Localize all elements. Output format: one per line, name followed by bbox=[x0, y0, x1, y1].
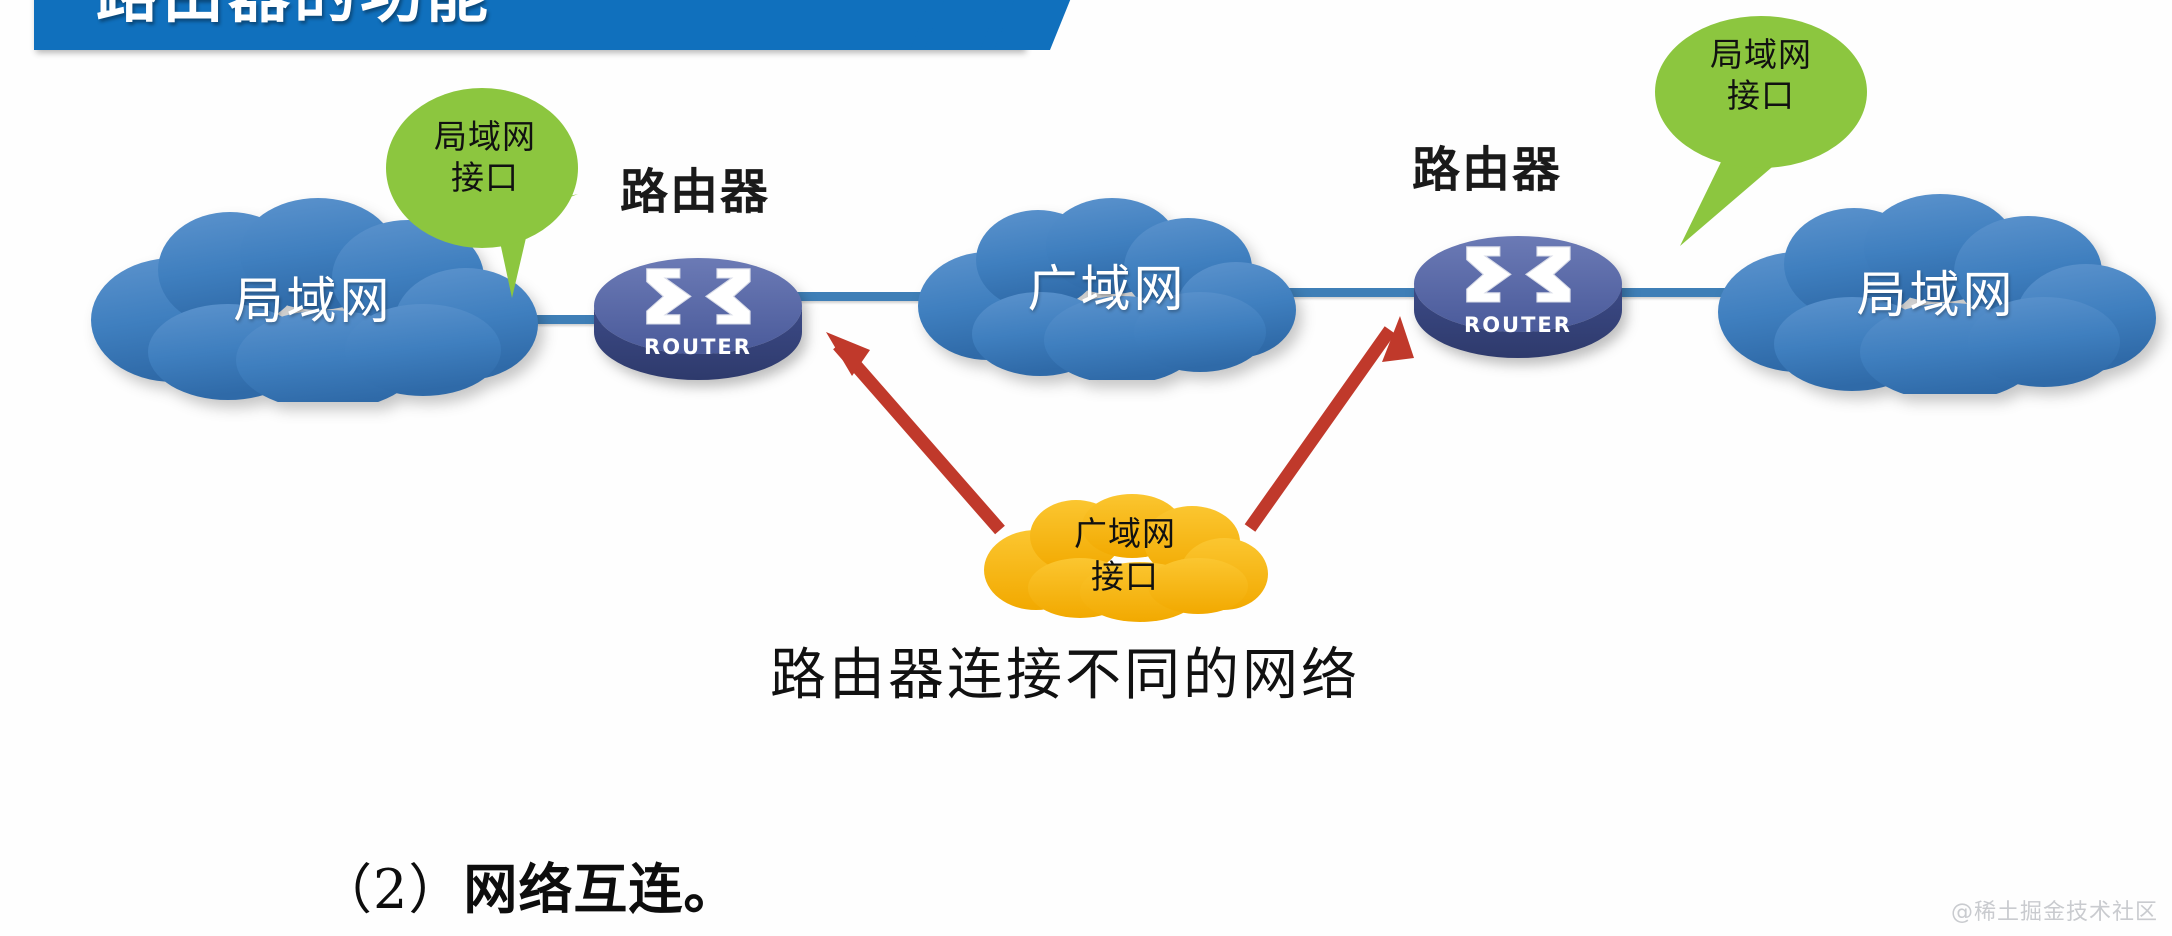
router-right-icon: ROUTER bbox=[1408, 218, 1628, 368]
slide-canvas: 路由器的功能 bbox=[0, 0, 2172, 936]
router-left-device-text: ROUTER bbox=[644, 335, 752, 359]
diagram-caption: 路由器连接不同的网络 bbox=[770, 630, 1360, 711]
router-right-device-text: ROUTER bbox=[1464, 313, 1572, 337]
router-right-label: 路由器 bbox=[1412, 130, 1562, 200]
callout-wan-interface: 广域网 接口 bbox=[980, 492, 1270, 622]
bullet-label: 网络互连。 bbox=[463, 858, 738, 921]
bullet-number: （2） bbox=[318, 858, 463, 921]
callout-line-2: 接口 bbox=[1654, 77, 1868, 118]
cloud-wan: 广域网 bbox=[912, 190, 1302, 380]
stripe-3 bbox=[989, 0, 1080, 50]
callout-lan-interface-left: 局域网 接口 bbox=[382, 86, 602, 316]
callout-line-2: 接口 bbox=[980, 557, 1270, 600]
slide-title-bar: 路由器的功能 bbox=[34, 0, 1024, 50]
bullet-item: （2）网络互连。 bbox=[318, 845, 738, 924]
page-title: 路由器的功能 bbox=[96, 0, 492, 34]
callout-lan-interface-right-text: 局域网 接口 bbox=[1654, 36, 1868, 119]
callout-lan-interface-right: 局域网 接口 bbox=[1636, 14, 1886, 264]
callout-lan-interface-left-text: 局域网 接口 bbox=[392, 118, 578, 201]
router-left-icon: ROUTER bbox=[588, 240, 808, 390]
callout-wan-interface-text: 广域网 接口 bbox=[980, 514, 1270, 600]
callout-line-1: 局域网 bbox=[1654, 36, 1868, 77]
callout-line-2: 接口 bbox=[392, 159, 578, 200]
router-left-label: 路由器 bbox=[620, 152, 770, 222]
title-decoration-stripes bbox=[880, 0, 1080, 50]
callout-line-1: 局域网 bbox=[392, 118, 578, 159]
watermark: @稀土掘金技术社区 bbox=[1951, 894, 2158, 926]
callout-line-1: 广域网 bbox=[980, 514, 1270, 557]
